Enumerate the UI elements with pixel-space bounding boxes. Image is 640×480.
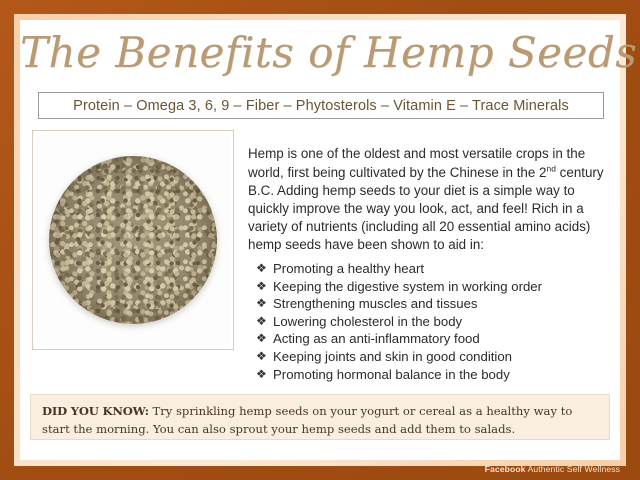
did-you-know-box: DID YOU KNOW: Try sprinkling hemp seeds … xyxy=(30,394,610,440)
floret-bullet-icon: ❖ xyxy=(256,313,273,331)
list-item-label: Promoting hormonal balance in the body xyxy=(273,366,612,384)
content-sheet: The Benefits of Hemp Seeds Protein – Ome… xyxy=(20,20,620,460)
list-item: ❖ Lowering cholesterol in the body xyxy=(256,313,612,331)
did-you-know-content: DID YOU KNOW: Try sprinkling hemp seeds … xyxy=(42,404,572,436)
floret-bullet-icon: ❖ xyxy=(256,366,273,384)
list-item-label: Keeping joints and skin in good conditio… xyxy=(273,348,612,366)
floret-bullet-icon: ❖ xyxy=(256,295,273,313)
hemp-seeds-photo xyxy=(32,130,234,350)
floret-bullet-icon: ❖ xyxy=(256,278,273,296)
attribution-brand: Facebook xyxy=(485,464,526,474)
floret-bullet-icon: ❖ xyxy=(256,348,273,366)
list-item: ❖ Promoting hormonal balance in the body xyxy=(256,366,612,384)
photo-inner-mat xyxy=(36,134,230,346)
list-item: ❖ Strengthening muscles and tissues xyxy=(256,295,612,313)
seed-pile-image xyxy=(49,156,217,324)
intro-paragraph-part1: Hemp is one of the oldest and most versa… xyxy=(248,146,585,179)
attribution: Facebook Authentic Self Wellness xyxy=(485,464,620,474)
nutrient-highlights-box: Protein – Omega 3, 6, 9 – Fiber – Phytos… xyxy=(38,92,604,119)
intro-paragraph: Hemp is one of the oldest and most versa… xyxy=(248,145,606,254)
hemp-seeds-infographic: The Benefits of Hemp Seeds Protein – Ome… xyxy=(0,0,640,480)
did-you-know-label: DID YOU KNOW: xyxy=(42,404,149,418)
floret-bullet-icon: ❖ xyxy=(256,330,273,348)
list-item: ❖ Promoting a healthy heart xyxy=(256,260,612,278)
list-item-label: Keeping the digestive system in working … xyxy=(273,278,612,296)
list-item-label: Strengthening muscles and tissues xyxy=(273,295,612,313)
floret-bullet-icon: ❖ xyxy=(256,260,273,278)
list-item: ❖ Keeping joints and skin in good condit… xyxy=(256,348,612,366)
list-item: ❖ Acting as an anti-inflammatory food xyxy=(256,330,612,348)
list-item-label: Acting as an anti-inflammatory food xyxy=(273,330,612,348)
list-item-label: Promoting a healthy heart xyxy=(273,260,612,278)
list-item: ❖ Keeping the digestive system in workin… xyxy=(256,278,612,296)
list-item-label: Lowering cholesterol in the body xyxy=(273,313,612,331)
benefits-list: ❖ Promoting a healthy heart ❖ Keeping th… xyxy=(256,260,612,383)
ordinal-superscript: nd xyxy=(546,163,555,173)
page-title: The Benefits of Hemp Seeds xyxy=(20,26,620,80)
attribution-page: Authentic Self Wellness xyxy=(526,464,620,474)
nutrient-highlights-text: Protein – Omega 3, 6, 9 – Fiber – Phytos… xyxy=(73,98,569,114)
